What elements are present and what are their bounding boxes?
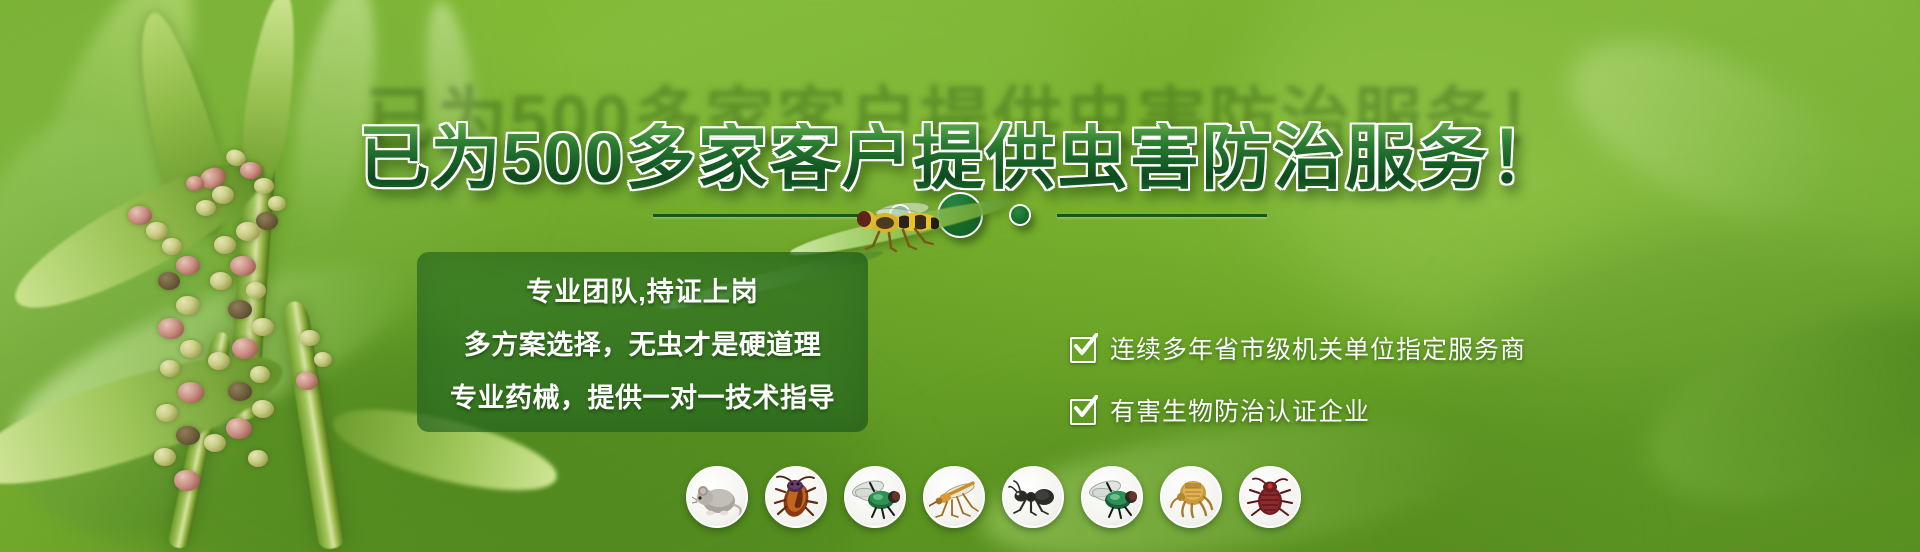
checkbox-checked-icon — [1070, 397, 1096, 423]
promo-banner: 已为500多家客户提供虫害防治服务！ 已为500多家客户提供虫害防治服务！ — [0, 0, 1920, 552]
list-item-label: 有害生物防治认证企业 — [1110, 392, 1370, 428]
checkbox-checked-icon — [1070, 335, 1096, 361]
list-item: 有害生物防治认证企业 — [1070, 392, 1526, 428]
feature-panel: 专业团队,持证上岗 多方案选择，无虫才是硬道理 专业药械，提供一对一技术指导 — [417, 252, 868, 432]
panel-line-1: 专业团队,持证上岗 — [526, 270, 759, 309]
pest-icon-row — [686, 466, 1301, 528]
divider-rule-right — [1057, 214, 1267, 217]
hoverfly-icon — [845, 198, 955, 256]
small-dot-icon — [1009, 204, 1031, 226]
fly-icon[interactable] — [844, 466, 906, 528]
greenbottle-fly-icon[interactable] — [1081, 466, 1143, 528]
divider-rule-left — [653, 214, 863, 217]
list-item: 连续多年省市级机关单位指定服务商 — [1070, 330, 1526, 366]
benefit-list: 连续多年省市级机关单位指定服务商 有害生物防治认证企业 — [1070, 330, 1526, 428]
flea-icon[interactable] — [1160, 466, 1222, 528]
cockroach-icon[interactable] — [765, 466, 827, 528]
page-title: 已为500多家客户提供虫害防治服务！ — [0, 123, 1920, 193]
ant-icon[interactable] — [1002, 466, 1064, 528]
bedbug-icon[interactable] — [1239, 466, 1301, 528]
mouse-icon[interactable] — [686, 466, 748, 528]
panel-line-2: 多方案选择，无虫才是硬道理 — [464, 323, 822, 362]
mosquito-icon[interactable] — [923, 466, 985, 528]
panel-line-3: 专业药械，提供一对一技术指导 — [450, 376, 835, 415]
list-item-label: 连续多年省市级机关单位指定服务商 — [1110, 330, 1526, 366]
